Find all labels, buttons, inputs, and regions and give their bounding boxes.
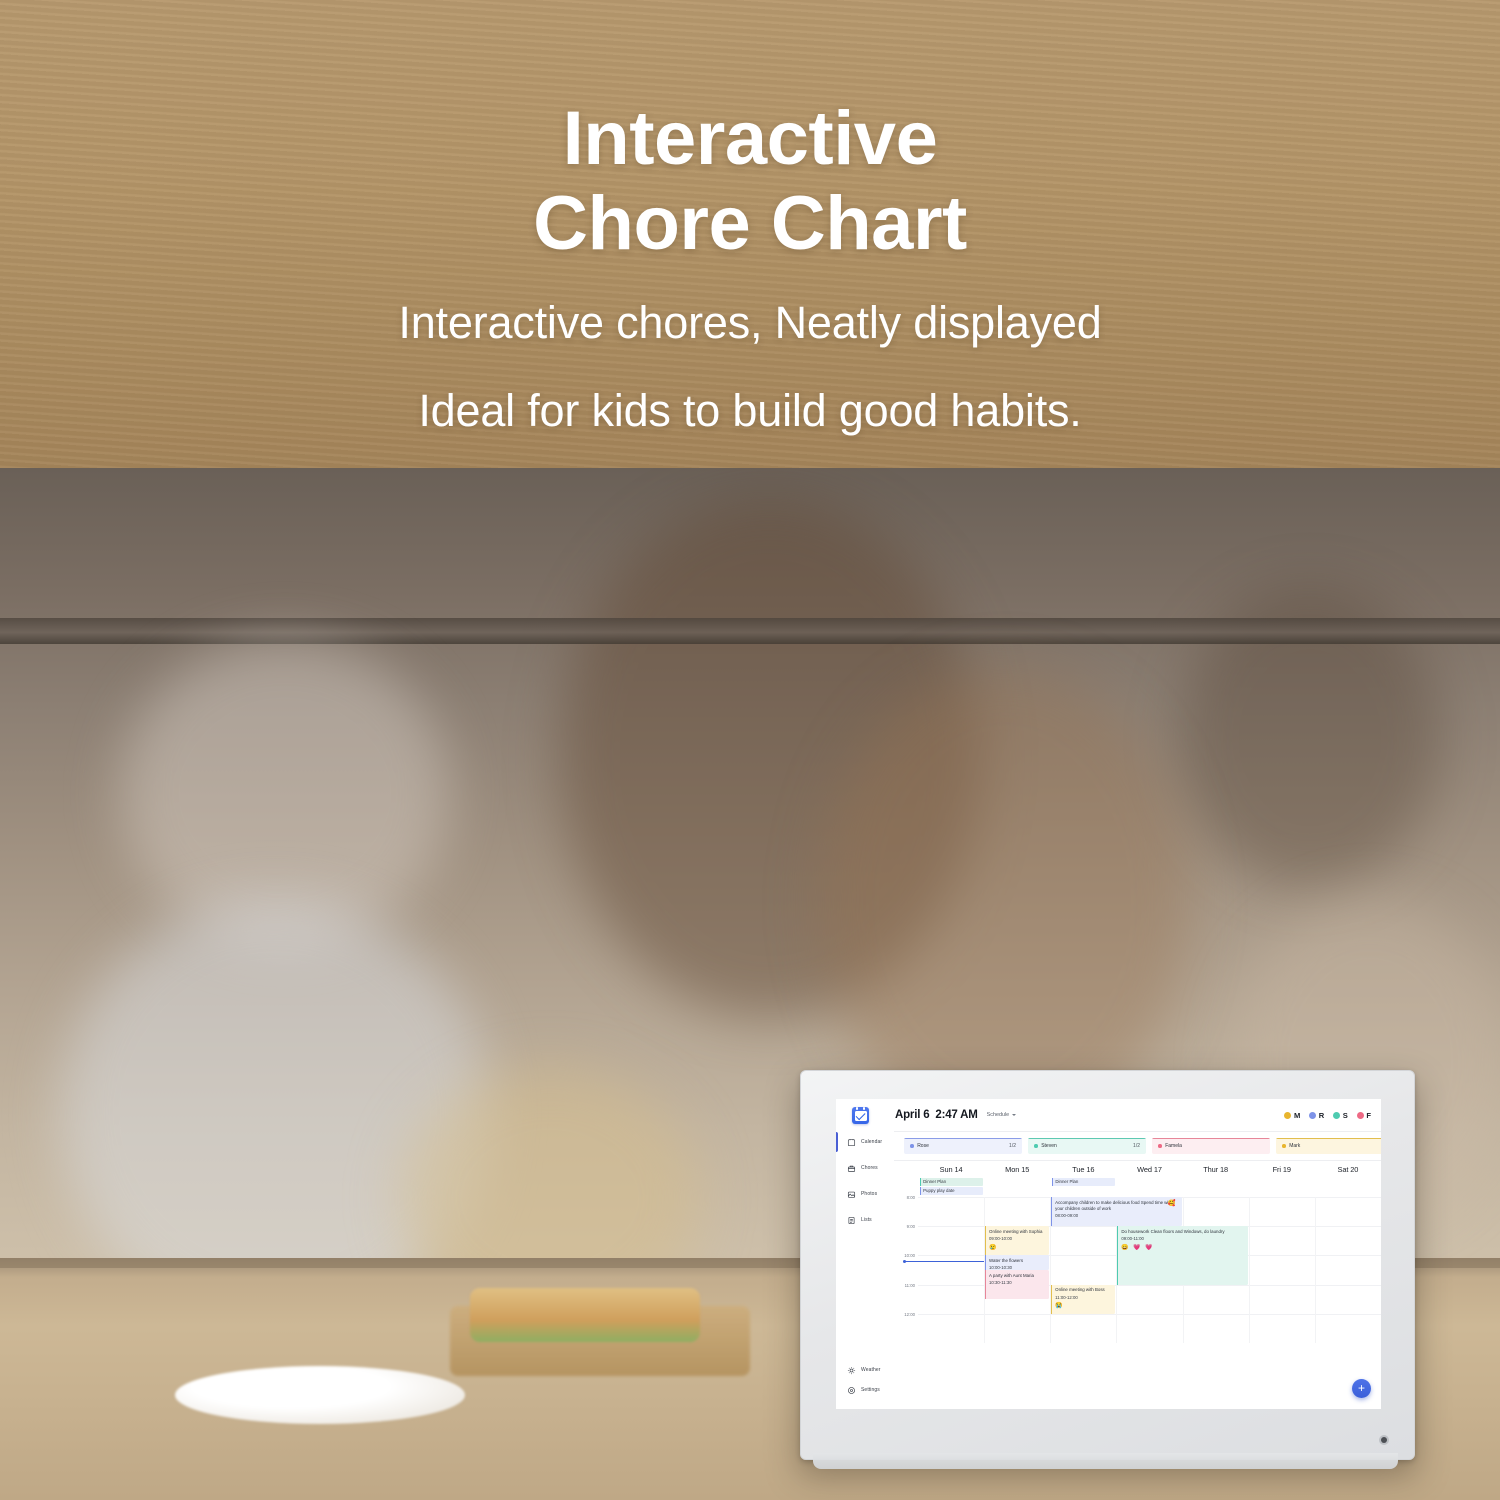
time-label: 9:00: [907, 1224, 915, 1229]
calendar-event[interactable]: Online meeting with Sophia09:00-10:00😢: [985, 1226, 1050, 1255]
chevron-down-icon: [1012, 1114, 1016, 1116]
calendar-icon: [847, 1138, 856, 1147]
chore-chip-count: 1/2: [1121, 1143, 1140, 1149]
add-event-button[interactable]: +: [1352, 1379, 1371, 1398]
event-title: A party with Aunt Maria: [989, 1273, 1046, 1279]
kitchen-rail: [0, 618, 1500, 644]
chore-chip-count: 1/2: [997, 1143, 1016, 1149]
day-header[interactable]: Sun 14: [918, 1161, 984, 1178]
time-label: 10:00: [904, 1253, 915, 1258]
avatar-initial: M: [1294, 1111, 1300, 1120]
sidebar-item-label: Lists: [861, 1217, 872, 1223]
sidebar-item-label: Weather: [861, 1367, 881, 1373]
view-mode-dropdown[interactable]: Schedule: [987, 1112, 1016, 1118]
chore-chip-dot: [1282, 1144, 1286, 1148]
calendar-app: Calendar Chores: [836, 1099, 1381, 1409]
chore-chip-rose[interactable]: Rose1/2: [904, 1138, 1022, 1154]
all-day-cell[interactable]: [1116, 1178, 1182, 1197]
calendar-event[interactable]: Online meeting with Boss11:00-12:00😭: [1051, 1285, 1116, 1314]
event-emoji: 😭: [1055, 1303, 1112, 1309]
event-title: Do housework Clean floors and Windows, d…: [1121, 1229, 1244, 1235]
product-poster: Interactive Chore Chart Interactive chor…: [0, 0, 1500, 1500]
view-mode-label: Schedule: [987, 1112, 1009, 1118]
event-emoji: 🥰: [1168, 1199, 1176, 1207]
day-gridline: [1249, 1197, 1250, 1343]
all-day-event[interactable]: Dinner Plan: [920, 1178, 983, 1186]
all-day-cell[interactable]: [1249, 1178, 1315, 1197]
gear-icon: [847, 1386, 856, 1395]
avatar[interactable]: S: [1333, 1111, 1348, 1120]
avatar[interactable]: M: [1284, 1111, 1300, 1120]
day-header[interactable]: Tue 16: [1050, 1161, 1116, 1178]
banner-text-block: Interactive Chore Chart Interactive chor…: [0, 0, 1500, 442]
time-label: 12:00: [904, 1312, 915, 1317]
day-gridline: [1315, 1197, 1316, 1343]
sandwich: [470, 1288, 700, 1342]
day-header[interactable]: Thur 18: [1183, 1161, 1249, 1178]
event-title: Online meeting with Sophia: [989, 1229, 1046, 1235]
avatar-dot: [1309, 1112, 1316, 1119]
calendar-event[interactable]: Water the flowers10:00-10:30: [985, 1255, 1050, 1270]
all-day-cell[interactable]: [984, 1178, 1050, 1197]
sidebar-item-label: Chores: [861, 1165, 878, 1171]
all-day-event[interactable]: Dinner Plan: [1052, 1178, 1115, 1186]
event-time: 10:30-11:30: [989, 1280, 1046, 1286]
chore-chip-dot: [1034, 1144, 1038, 1148]
avatar[interactable]: F: [1357, 1111, 1371, 1120]
smart-display-device: Calendar Chores: [800, 1070, 1415, 1460]
all-day-cell[interactable]: Dinner Plan: [1050, 1178, 1116, 1197]
sidebar-item-chores[interactable]: Chores: [836, 1155, 894, 1181]
device-camera-icon: [1381, 1437, 1387, 1443]
header-date: April 6: [895, 1109, 929, 1121]
subhead-line-1: Interactive chores, Neatly displayed: [0, 292, 1500, 354]
calendar-event[interactable]: Accompany children to make delicious foo…: [1051, 1197, 1182, 1226]
day-header-row: Sun 14Mon 15Tue 16Wed 17Thur 18Fri 19Sat…: [894, 1161, 1381, 1178]
event-emoji: 😢: [989, 1245, 1046, 1251]
sidebar: Calendar Chores: [836, 1099, 894, 1409]
scene-blur-shape: [820, 668, 1190, 1138]
avatar[interactable]: R: [1309, 1111, 1324, 1120]
event-time: 09:00-10:00: [989, 1236, 1046, 1242]
calendar-grid: Dinner PlanPuppy play dateDinner Plan 8:…: [894, 1178, 1381, 1409]
event-time: 11:00-12:00: [1055, 1295, 1112, 1301]
event-emoji: 😄 💗 💗: [1121, 1245, 1244, 1251]
event-title: Online meeting with Boss: [1055, 1287, 1112, 1293]
sidebar-item-weather[interactable]: Weather: [836, 1357, 894, 1383]
all-day-cell[interactable]: [1315, 1178, 1381, 1197]
calendar-check-icon: [852, 1107, 869, 1124]
calendar-event[interactable]: Do housework Clean floors and Windows, d…: [1117, 1226, 1248, 1284]
photos-icon: [847, 1190, 856, 1199]
sidebar-item-lists[interactable]: Lists: [836, 1207, 894, 1233]
member-avatars: M R S F: [1284, 1111, 1371, 1120]
calendar-event[interactable]: A party with Aunt Maria10:30-11:30: [985, 1270, 1050, 1299]
white-plate: [175, 1366, 465, 1424]
avatar-dot: [1333, 1112, 1340, 1119]
device-stand: [813, 1453, 1398, 1469]
event-title: Accompany children to make delicious foo…: [1055, 1200, 1178, 1213]
sidebar-item-calendar[interactable]: Calendar: [836, 1129, 894, 1155]
plus-icon: +: [1358, 1382, 1365, 1394]
event-time: 08:00-09:00: [1055, 1213, 1178, 1219]
avatar-dot: [1284, 1112, 1291, 1119]
sidebar-item-settings[interactable]: Settings: [836, 1383, 894, 1409]
headline-line-1: Interactive: [0, 96, 1500, 181]
avatar-dot: [1357, 1112, 1364, 1119]
chore-chip-name: Mark: [1289, 1143, 1300, 1149]
chore-chip-steven[interactable]: Steven1/2: [1028, 1138, 1146, 1154]
chore-chip-dot: [910, 1144, 914, 1148]
sidebar-item-label: Photos: [861, 1191, 877, 1197]
hour-gridline: [918, 1314, 1381, 1315]
app-header: April 6 2:47 AM Schedule M: [894, 1099, 1381, 1131]
sidebar-item-photos[interactable]: Photos: [836, 1181, 894, 1207]
time-grid[interactable]: 8:009:0010:0011:0012:00Accompany childre…: [894, 1197, 1381, 1343]
main-panel: April 6 2:47 AM Schedule M: [894, 1099, 1381, 1409]
time-label: 8:00: [907, 1195, 915, 1200]
event-time: 09:00-11:00: [1121, 1236, 1244, 1242]
chore-chip-name: Rose: [917, 1143, 929, 1149]
chore-chip-mark[interactable]: Mark: [1276, 1138, 1381, 1154]
event-title: Water the flowers: [989, 1258, 1046, 1264]
chore-chip-famela[interactable]: Famela: [1152, 1138, 1270, 1154]
avatar-initial: S: [1343, 1111, 1348, 1120]
time-axis: 8:009:0010:0011:0012:00: [894, 1197, 918, 1343]
headline-line-2: Chore Chart: [0, 181, 1500, 266]
all-day-event[interactable]: Puppy play date: [920, 1187, 983, 1195]
chore-chip-dot: [1158, 1144, 1162, 1148]
subhead-line-2: Ideal for kids to build good habits.: [0, 380, 1500, 442]
all-day-cell[interactable]: [1183, 1178, 1249, 1197]
sidebar-spacer: [836, 1233, 894, 1357]
day-header[interactable]: Wed 17: [1116, 1161, 1182, 1178]
chores-basket-icon: [847, 1164, 856, 1173]
avatar-initial: F: [1366, 1111, 1371, 1120]
chore-chip-row: Rose1/2Steven1/2FamelaMark: [894, 1132, 1381, 1160]
day-header[interactable]: Fri 19: [1249, 1161, 1315, 1178]
day-header[interactable]: Mon 15: [984, 1161, 1050, 1178]
avatar-initial: R: [1319, 1111, 1324, 1120]
header-time: 2:47 AM: [935, 1109, 977, 1121]
sidebar-item-label: Calendar: [861, 1139, 882, 1145]
lists-icon: [847, 1216, 856, 1225]
all-day-cell[interactable]: Dinner PlanPuppy play date: [918, 1178, 984, 1197]
sidebar-item-label: Settings: [861, 1387, 880, 1393]
chore-chip-name: Steven: [1041, 1143, 1057, 1149]
day-header[interactable]: Sat 20: [1315, 1161, 1381, 1178]
sun-weather-icon: [847, 1366, 856, 1375]
chore-chip-name: Famela: [1165, 1143, 1182, 1149]
device-screen: Calendar Chores: [836, 1099, 1381, 1409]
current-time-line: [904, 1261, 984, 1262]
time-label: 11:00: [905, 1283, 915, 1288]
all-day-row: Dinner PlanPuppy play dateDinner Plan: [894, 1178, 1381, 1197]
